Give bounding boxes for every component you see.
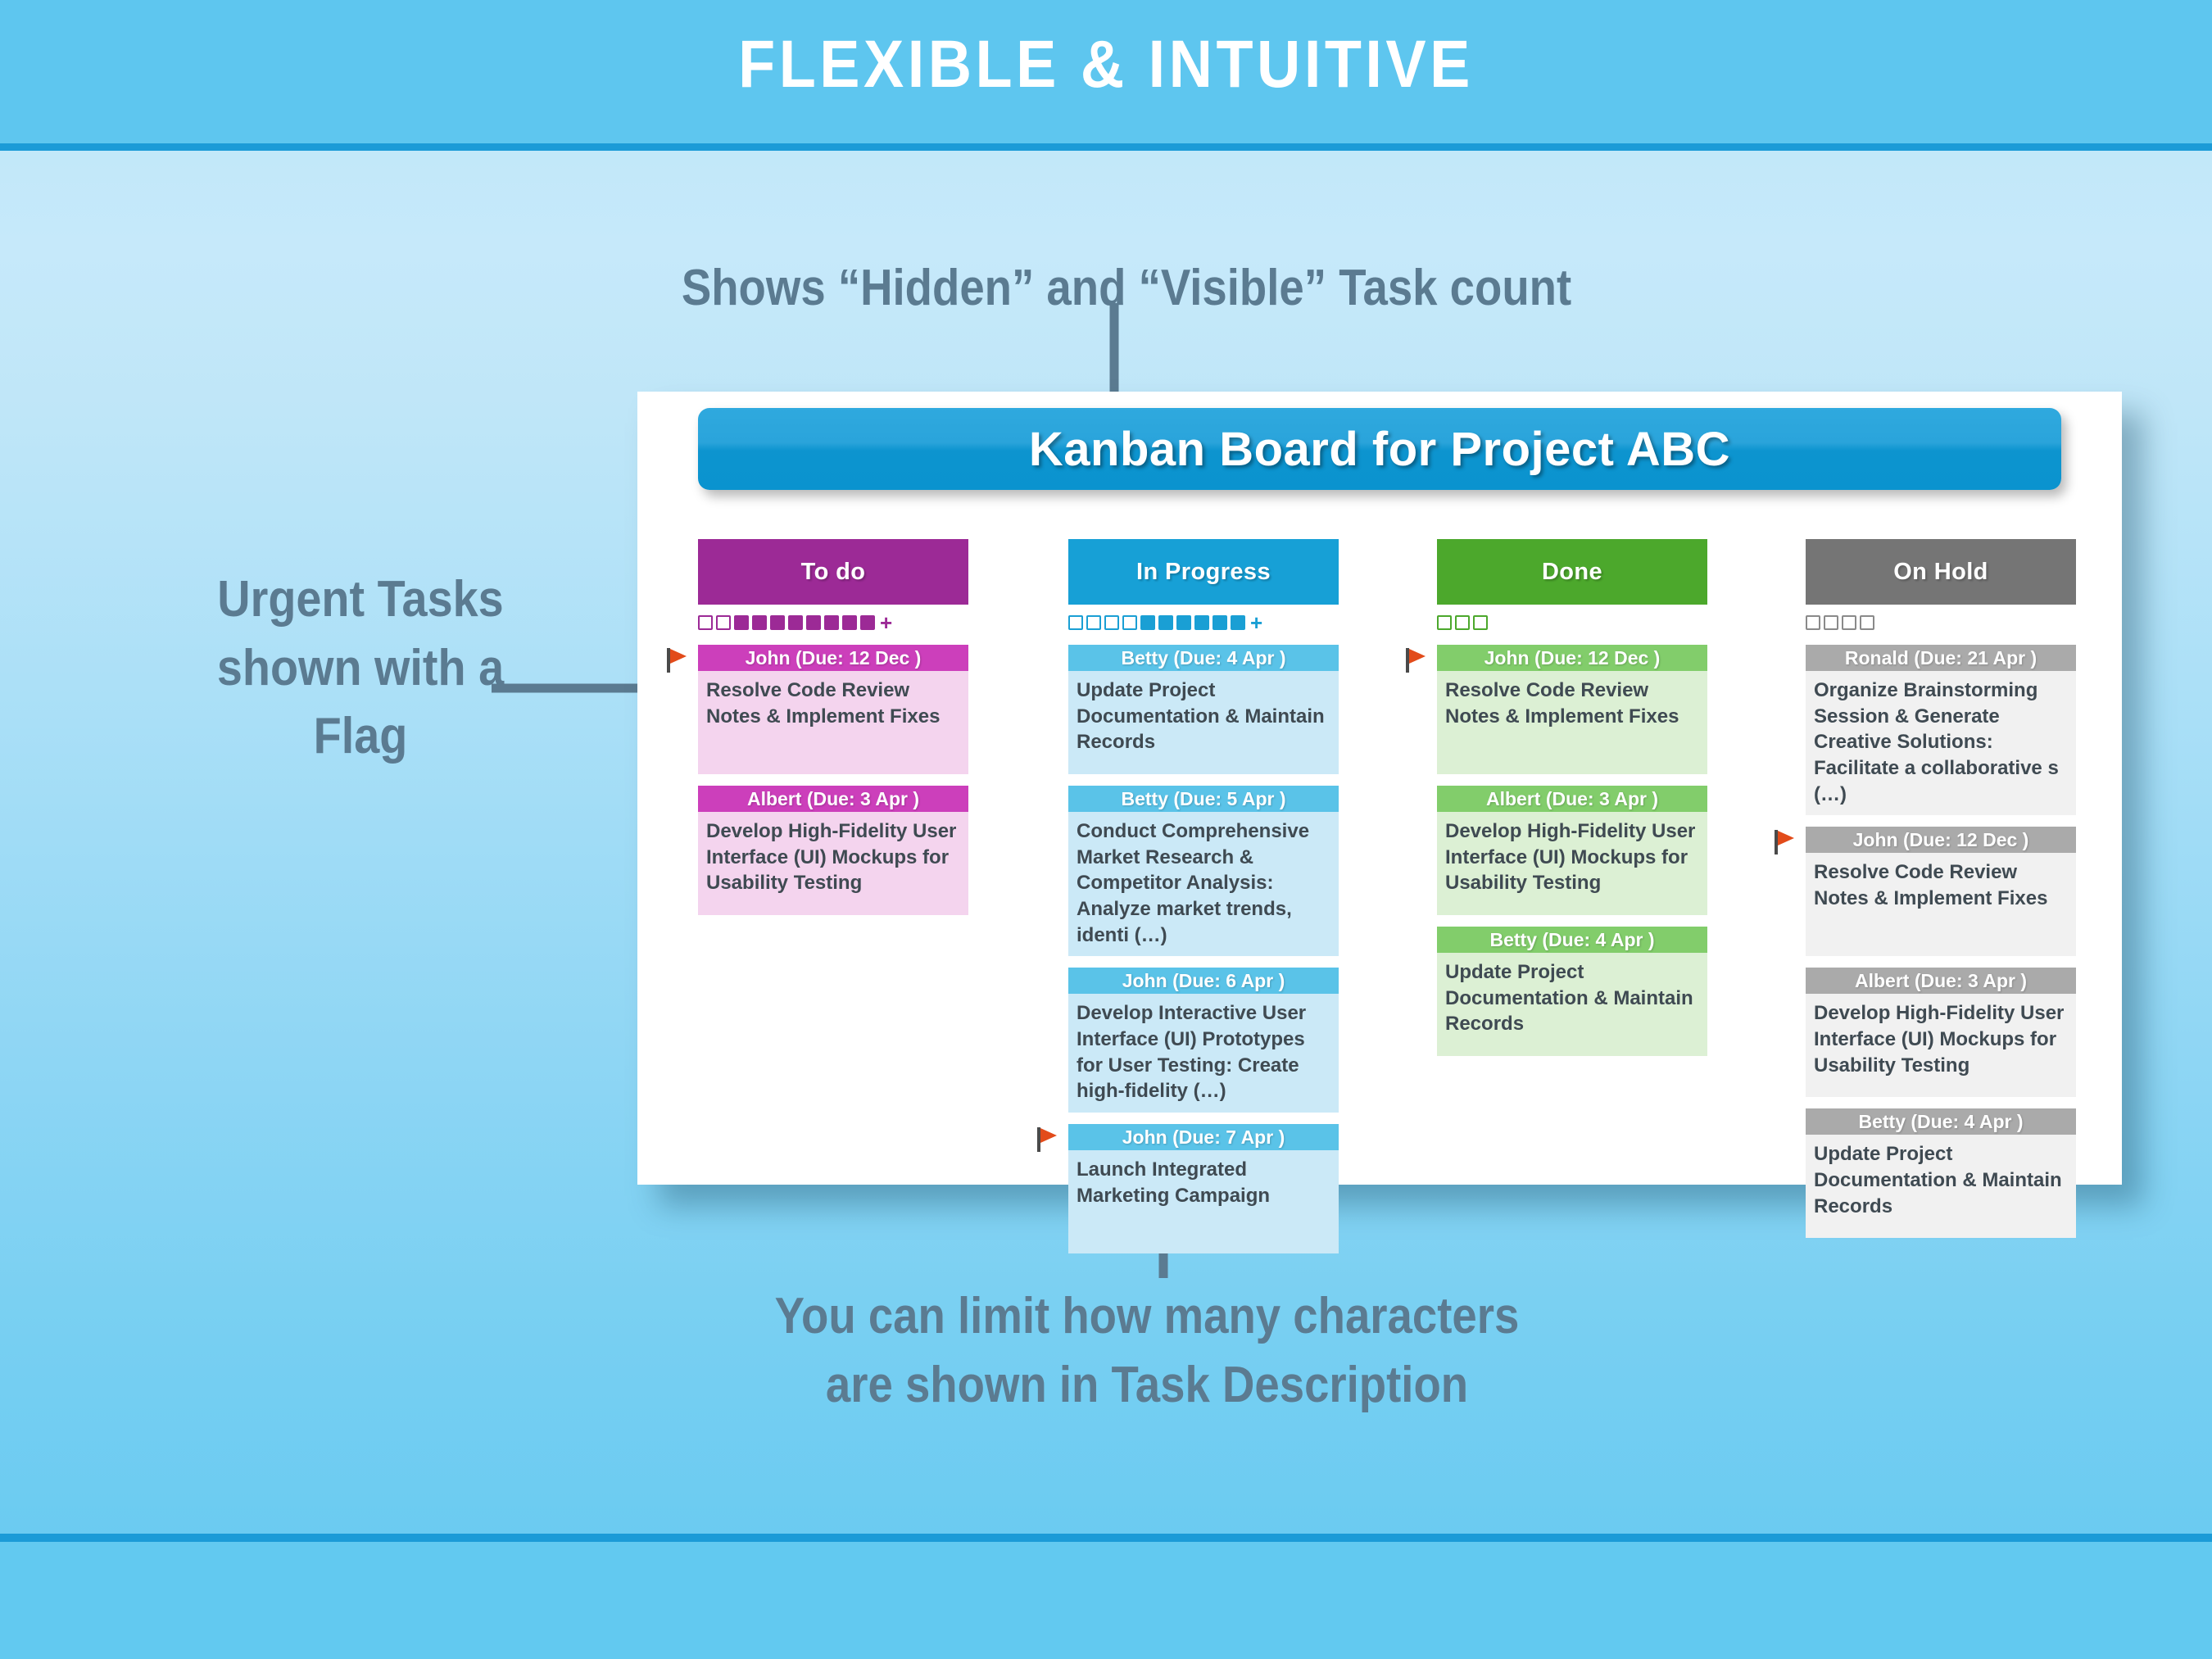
task-card-meta: Betty (Due: 5 Apr )	[1068, 786, 1339, 812]
hidden-task-square	[1455, 615, 1470, 630]
hidden-task-square	[1473, 615, 1488, 630]
visible-task-square	[842, 615, 857, 630]
plus-icon[interactable]: +	[880, 615, 892, 630]
hidden-task-square	[1086, 615, 1101, 630]
task-card-description: Develop Interactive User Interface (UI) …	[1068, 994, 1339, 1113]
kanban-columns: To do+John (Due: 12 Dec )Resolve Code Re…	[637, 539, 2122, 1186]
task-card-description: Resolve Code Review Notes & Implement Fi…	[698, 671, 968, 774]
flag-icon	[1404, 646, 1427, 676]
task-card-description: Develop High-Fidelity User Interface (UI…	[1806, 994, 2076, 1097]
annotation-urgent-flag: Urgent Tasks shown with a Flag	[132, 565, 589, 771]
task-count-indicator-in-progress: +	[1068, 612, 1339, 633]
hidden-task-square	[1806, 615, 1820, 630]
task-card-description: Conduct Comprehensive Market Research & …	[1068, 812, 1339, 956]
slide-canvas: FLEXIBLE & INTUITIVE Shows “Hidden” and …	[0, 0, 2212, 1659]
hidden-task-square	[1842, 615, 1856, 630]
hidden-task-square	[698, 615, 713, 630]
visible-task-square	[806, 615, 821, 630]
board-title-bar: Kanban Board for Project ABC	[698, 408, 2061, 490]
task-card-meta: Ronald (Due: 21 Apr )	[1806, 645, 2076, 671]
task-card-description: Resolve Code Review Notes & Implement Fi…	[1437, 671, 1707, 774]
visible-task-square	[1158, 615, 1173, 630]
task-card-meta: Albert (Due: 3 Apr )	[1437, 786, 1707, 812]
flag-icon	[1036, 1126, 1058, 1155]
visible-task-square	[734, 615, 749, 630]
task-card-description: Organize Brainstorming Session & Generat…	[1806, 671, 2076, 815]
visible-task-square	[1194, 615, 1209, 630]
visible-task-square	[1213, 615, 1227, 630]
task-card[interactable]: John (Due: 12 Dec )Resolve Code Review N…	[698, 645, 968, 774]
task-card[interactable]: Albert (Due: 3 Apr )Develop High-Fidelit…	[698, 786, 968, 915]
task-card-description: Develop High-Fidelity User Interface (UI…	[698, 812, 968, 915]
kanban-column-in-progress[interactable]: In Progress+Betty (Due: 4 Apr )Update Pr…	[1068, 539, 1339, 1253]
task-card-meta: John (Due: 12 Dec )	[698, 645, 968, 671]
visible-task-square	[770, 615, 785, 630]
kanban-app-panel: Kanban Board for Project ABC To do+John …	[637, 392, 2122, 1185]
hidden-task-square	[1860, 615, 1874, 630]
task-card-meta: Betty (Due: 4 Apr )	[1068, 645, 1339, 671]
task-card[interactable]: John (Due: 12 Dec )Resolve Code Review N…	[1806, 827, 2076, 956]
annotation-char-limit-line-2: are shown in Task Description	[642, 1351, 1652, 1420]
annotation-task-count: Shows “Hidden” and “Visible” Task count	[604, 254, 1649, 323]
task-card-meta: Betty (Due: 4 Apr )	[1437, 927, 1707, 953]
task-card[interactable]: Betty (Due: 4 Apr )Update Project Docume…	[1437, 927, 1707, 1056]
visible-task-square	[1231, 615, 1245, 630]
task-count-indicator-to-do: +	[698, 612, 968, 633]
task-card-meta: Albert (Due: 3 Apr )	[1806, 968, 2076, 994]
task-card-description: Update Project Documentation & Maintain …	[1068, 671, 1339, 774]
column-header-to-do[interactable]: To do	[698, 539, 968, 605]
hidden-task-square	[1104, 615, 1119, 630]
kanban-column-to-do[interactable]: To do+John (Due: 12 Dec )Resolve Code Re…	[698, 539, 968, 915]
plus-icon[interactable]: +	[1250, 615, 1262, 630]
hidden-task-square	[1437, 615, 1452, 630]
visible-task-square	[1140, 615, 1155, 630]
task-card-meta: John (Due: 7 Apr )	[1068, 1124, 1339, 1150]
bottom-color-band	[0, 1542, 2212, 1659]
task-card-description: Update Project Documentation & Maintain …	[1437, 953, 1707, 1056]
column-header-done[interactable]: Done	[1437, 539, 1707, 605]
task-card[interactable]: Betty (Due: 4 Apr )Update Project Docume…	[1068, 645, 1339, 774]
task-card[interactable]: John (Due: 7 Apr )Launch Integrated Mark…	[1068, 1124, 1339, 1253]
top-divider-rule	[0, 143, 2212, 151]
task-count-indicator-done	[1437, 612, 1707, 633]
visible-task-square	[1176, 615, 1191, 630]
visible-task-square	[860, 615, 875, 630]
visible-task-square	[752, 615, 767, 630]
hidden-task-square	[1068, 615, 1083, 630]
annotation-char-limit-line-1: You can limit how many characters	[642, 1282, 1652, 1351]
task-card-description: Resolve Code Review Notes & Implement Fi…	[1806, 853, 2076, 956]
task-card-description: Develop High-Fidelity User Interface (UI…	[1437, 812, 1707, 915]
visible-task-square	[788, 615, 803, 630]
task-card[interactable]: John (Due: 12 Dec )Resolve Code Review N…	[1437, 645, 1707, 774]
task-card-meta: John (Due: 6 Apr )	[1068, 968, 1339, 994]
kanban-column-on-hold[interactable]: On HoldRonald (Due: 21 Apr )Organize Bra…	[1806, 539, 2076, 1238]
column-header-in-progress[interactable]: In Progress	[1068, 539, 1339, 605]
task-card-description: Launch Integrated Marketing Campaign	[1068, 1150, 1339, 1253]
annotation-urgent-line-1: Urgent Tasks	[132, 565, 589, 634]
task-card-meta: John (Due: 12 Dec )	[1806, 827, 2076, 853]
task-card-meta: Betty (Due: 4 Apr )	[1806, 1108, 2076, 1135]
annotation-urgent-line-3: Flag	[132, 702, 589, 771]
task-card-meta: Albert (Due: 3 Apr )	[698, 786, 968, 812]
slide-headline: FLEXIBLE & INTUITIVE	[111, 26, 2101, 103]
task-card[interactable]: Betty (Due: 5 Apr )Conduct Comprehensive…	[1068, 786, 1339, 956]
kanban-column-done[interactable]: DoneJohn (Due: 12 Dec )Resolve Code Revi…	[1437, 539, 1707, 1056]
task-card[interactable]: Ronald (Due: 21 Apr )Organize Brainstorm…	[1806, 645, 2076, 815]
column-header-on-hold[interactable]: On Hold	[1806, 539, 2076, 605]
hidden-task-square	[1122, 615, 1137, 630]
hidden-task-square	[1824, 615, 1838, 630]
visible-task-square	[824, 615, 839, 630]
annotation-char-limit: You can limit how many characters are sh…	[642, 1282, 1652, 1419]
annotation-urgent-line-2: shown with a	[132, 634, 589, 703]
task-card[interactable]: John (Due: 6 Apr )Develop Interactive Us…	[1068, 968, 1339, 1113]
task-count-indicator-on-hold	[1806, 612, 2076, 633]
task-card[interactable]: Betty (Due: 4 Apr )Update Project Docume…	[1806, 1108, 2076, 1238]
task-card[interactable]: Albert (Due: 3 Apr )Develop High-Fidelit…	[1437, 786, 1707, 915]
task-card[interactable]: Albert (Due: 3 Apr )Develop High-Fidelit…	[1806, 968, 2076, 1097]
flag-icon	[1773, 828, 1796, 858]
task-card-description: Update Project Documentation & Maintain …	[1806, 1135, 2076, 1238]
bottom-divider-rule	[0, 1534, 2212, 1542]
hidden-task-square	[716, 615, 731, 630]
task-card-meta: John (Due: 12 Dec )	[1437, 645, 1707, 671]
flag-icon	[665, 646, 688, 676]
